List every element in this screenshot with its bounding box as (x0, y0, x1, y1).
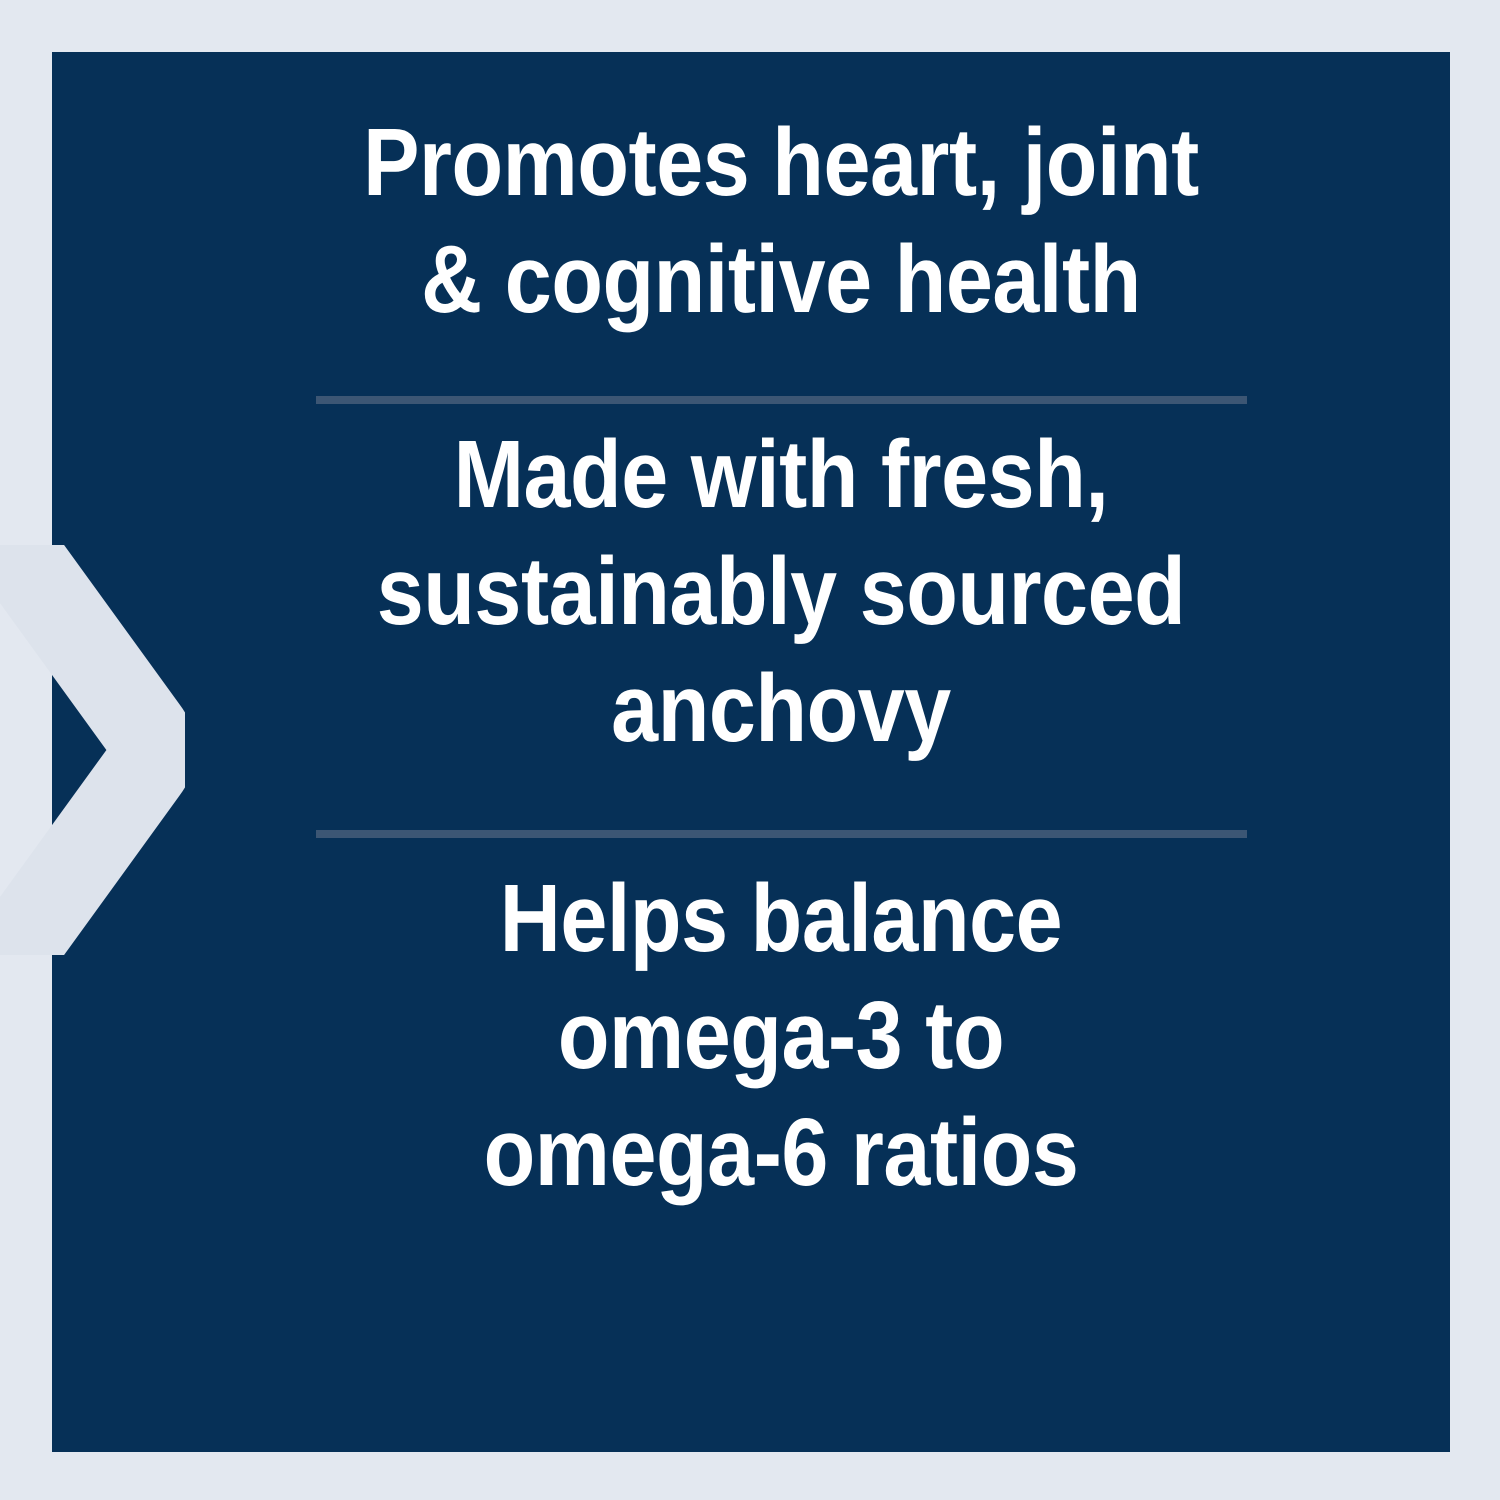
benefit-divider-1 (316, 396, 1247, 404)
benefit-item-3: Helps balance omega-3 to omega-6 ratios (296, 860, 1266, 1211)
product-feature-graphic: Promotes heart, joint & cognitive health… (0, 0, 1500, 1500)
benefit-divider-2 (316, 830, 1247, 838)
benefit-item-1: Promotes heart, joint & cognitive health (296, 104, 1266, 338)
benefits-list: Promotes heart, joint & cognitive health… (52, 52, 1450, 1452)
benefit-item-2: Made with fresh, sustainably sourced anc… (296, 416, 1266, 767)
